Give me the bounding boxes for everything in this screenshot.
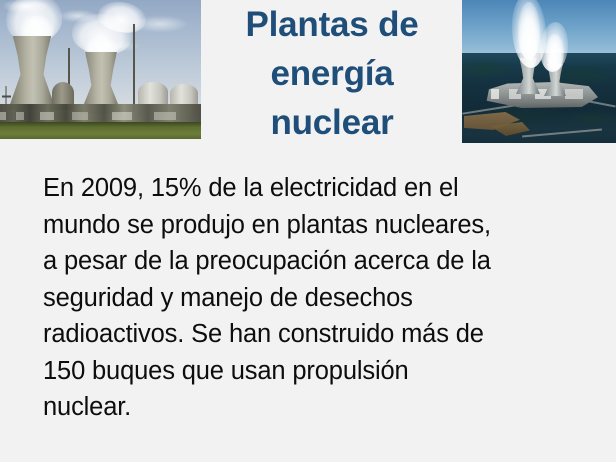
steam-plume-icon [518, 2, 540, 60]
title-line-3: nuclear [203, 98, 461, 147]
title-line-2: energía [203, 49, 461, 98]
grass-field-layer [0, 122, 201, 139]
body-line-6: 150 buques que usan propulsión [43, 353, 588, 390]
header-band: Plantas de energía nuclear [0, 0, 616, 160]
nuclear-plant-aerial-image [462, 0, 616, 143]
slide-canvas: Plantas de energía nuclear En 2009, 15% … [0, 0, 616, 462]
steam-plume-icon [546, 34, 564, 70]
page-title: Plantas de energía nuclear [203, 0, 461, 147]
title-line-1: Plantas de [203, 0, 461, 49]
body-line-7: nuclear. [43, 389, 588, 426]
chimney-icon [133, 24, 135, 112]
body-line-4: seguridad y manejo de desechos [43, 280, 588, 317]
body-line-5: radioactivos. Se han construido más de [43, 316, 588, 353]
body-paragraph: En 2009, 15% de la electricidad en el mu… [43, 170, 588, 426]
body-line-1: En 2009, 15% de la electricidad en el [43, 170, 588, 207]
body-line-3: a pesar de la preocupación acerca de la [43, 243, 588, 280]
nuclear-plant-cooling-towers-image [0, 0, 201, 139]
body-line-2: mundo se produjo en plantas nucleares, [43, 207, 588, 244]
